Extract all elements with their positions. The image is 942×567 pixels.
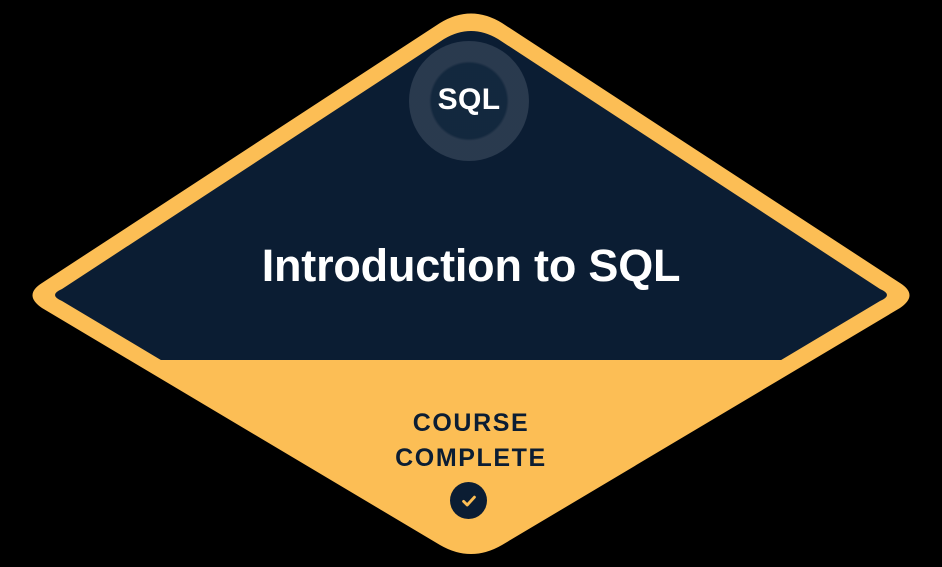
completion-status: COURSE COMPLETE (0, 406, 942, 476)
status-line-1: COURSE (0, 406, 942, 441)
emblem-label: SQL (438, 85, 501, 115)
status-line-2: COMPLETE (0, 441, 942, 476)
sql-circle-emblem: SQL (409, 41, 529, 161)
check-circle-icon (450, 482, 487, 519)
course-badge[interactable]: SQL Introduction to SQL COURSE COMPLETE (0, 0, 942, 567)
page-title: Introduction to SQL (0, 241, 942, 291)
